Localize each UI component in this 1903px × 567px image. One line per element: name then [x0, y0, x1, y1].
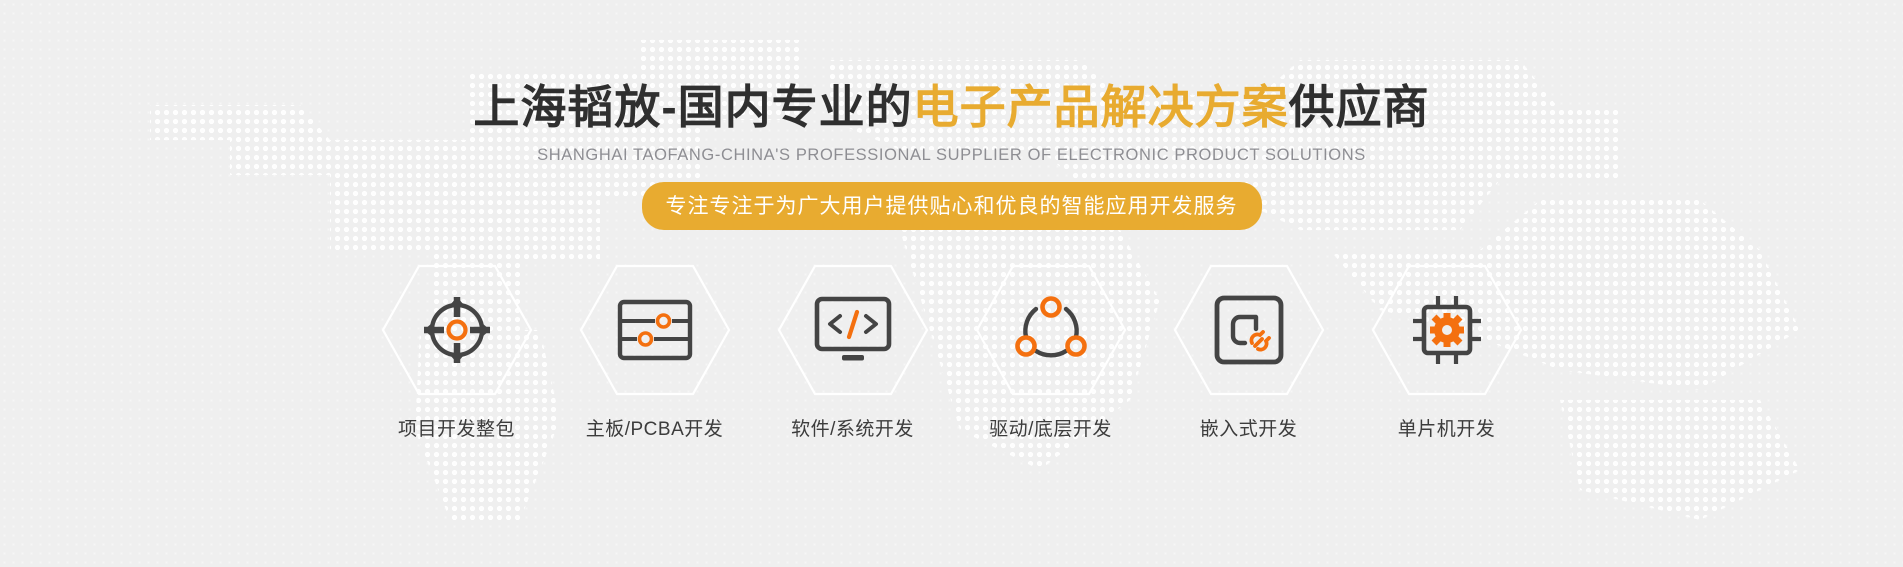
service-label: 主板/PCBA开发 — [586, 414, 724, 441]
hex-frame — [1371, 260, 1523, 400]
node-network-icon — [1014, 293, 1088, 367]
microcontroller-gear-icon — [1407, 290, 1487, 370]
service-item-project-package[interactable]: 项目开发整包 — [377, 260, 537, 441]
circuit-board-icon — [617, 299, 693, 361]
headline-segment-1: 上海韬放-国内专业的 — [473, 81, 912, 133]
service-item-software[interactable]: 软件/系统开发 — [773, 260, 933, 441]
service-label: 嵌入式开发 — [1200, 414, 1298, 441]
subtitle-english: SHANGHAI TAOFANG-CHINA'S PROFESSIONAL SU… — [537, 146, 1366, 165]
hex-frame — [777, 260, 929, 400]
service-item-mcu[interactable]: 单片机开发 — [1367, 260, 1527, 441]
monitor-code-icon — [814, 296, 892, 364]
hex-frame — [381, 260, 533, 400]
service-label: 软件/系统开发 — [791, 414, 914, 441]
hex-frame — [579, 260, 731, 400]
service-list: 项目开发整包 — [377, 260, 1527, 441]
hex-frame — [975, 260, 1127, 400]
service-item-embedded[interactable]: 嵌入式开发 — [1169, 260, 1329, 441]
tagline-badge: 专注专注于为广大用户提供贴心和优良的智能应用开发服务 — [642, 182, 1262, 230]
headline-segment-accent: 电子产品解决方案 — [913, 81, 1289, 133]
hero-banner: 上海韬放-国内专业的电子产品解决方案供应商 SHANGHAI TAOFANG-C… — [0, 0, 1903, 567]
service-label: 单片机开发 — [1398, 414, 1496, 441]
service-item-pcba[interactable]: 主板/PCBA开发 — [575, 260, 735, 441]
hex-frame — [1173, 260, 1325, 400]
service-label: 驱动/底层开发 — [989, 414, 1112, 441]
chip-link-icon — [1214, 295, 1284, 365]
service-label: 项目开发整包 — [398, 414, 515, 441]
crosshair-target-icon — [420, 293, 494, 367]
service-item-driver[interactable]: 驱动/底层开发 — [971, 260, 1131, 441]
headline-segment-3: 供应商 — [1289, 81, 1430, 133]
page-title: 上海韬放-国内专业的电子产品解决方案供应商 — [473, 82, 1429, 133]
